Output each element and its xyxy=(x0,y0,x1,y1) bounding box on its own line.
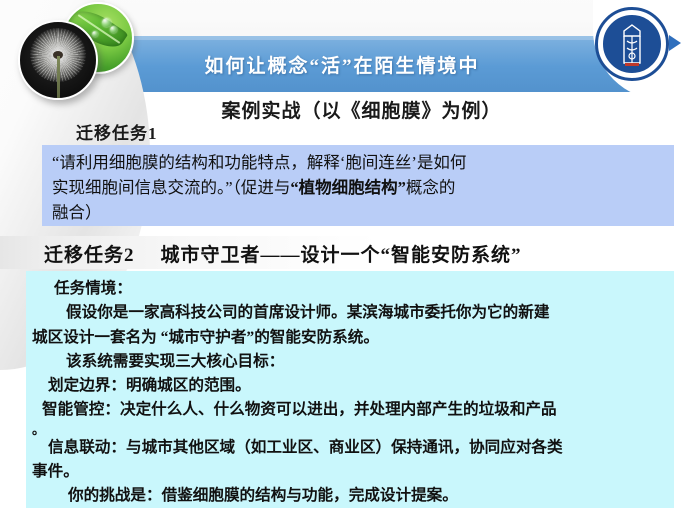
slide-title-bar: 如何让概念“活”在陌生情境中 xyxy=(118,39,566,89)
task1-content-box: “请利用细胞膜的结构和功能特点，解释‘胞间连丝’是如何 实现细胞间信息交流的。”… xyxy=(42,145,674,226)
logo-side-arrow-icon xyxy=(669,35,681,51)
task2-goal-2-line2: 。 xyxy=(32,423,668,436)
task1-line-2-part-a: 实现细胞间信息交流的。”（促进与 xyxy=(52,178,290,197)
task1-line-3: 融合） xyxy=(52,200,664,225)
dew-drop-icon xyxy=(110,26,117,33)
task2-goal-3-line2: 事件。 xyxy=(32,460,668,484)
task1-line-2-emphasis: “植物细胞结构” xyxy=(290,178,406,197)
task2-goals-intro: 该系统需要实现三大核心目标： xyxy=(32,350,668,374)
task1-line-1: “请利用细胞膜的结构和功能特点，解释‘胞间连丝’是如何 xyxy=(52,150,664,175)
task2-label: 迁移任务2 xyxy=(44,245,135,266)
dandelion-photo xyxy=(18,20,98,100)
task2-paragraph1-line2: 城区设计一套名为 “城市守护者”的智能安防系统。 xyxy=(32,326,668,350)
task2-goal-1: 划定边界：明确城区的范围。 xyxy=(32,374,668,398)
task1-label: 迁移任务1 xyxy=(76,119,158,144)
dew-drop-icon xyxy=(102,18,111,27)
task2-scenario-heading: 任务情境： xyxy=(32,277,668,301)
dandelion-stem xyxy=(57,56,60,100)
task2-heading: 迁移任务2城市守卫者——设计一个“智能安防系统” xyxy=(44,240,522,267)
task2-title: 城市守卫者——设计一个“智能安防系统” xyxy=(161,245,522,266)
dew-drop-icon xyxy=(92,31,98,37)
task2-paragraph1-line1: 假设你是一家高科技公司的首席设计师。某滨海城市委托你为它的新建 xyxy=(32,301,668,325)
task2-goal-3-line1: 信息联动：与城市其他区域（如工业区、商业区）保持通讯，协同应对各类 xyxy=(32,436,668,460)
task1-line-2: 实现细胞间信息交流的。”（促进与“植物细胞结构”概念的 xyxy=(52,175,664,200)
slide-title: 如何让概念“活”在陌生情境中 xyxy=(204,51,479,78)
university-logo xyxy=(595,7,669,81)
task2-content-box: 任务情境： 假设你是一家高科技公司的首席设计师。某滨海城市委托你为它的新建 城区… xyxy=(26,271,674,508)
task2-challenge: 你的挑战是：借鉴细胞膜的结构与功能，完成设计提案。 xyxy=(32,484,668,508)
task1-line-2-part-c: 概念的 xyxy=(406,178,456,197)
task2-goal-2-line1: 智能管控：决定什么人、什么物资可以进出，并处理内部产生的垃圾和产品 xyxy=(32,398,668,422)
slide-canvas: 如何让概念“活”在陌生情境中 案例实战（以《细胞膜》为例） 迁移任务1 “请利用… xyxy=(0,0,687,511)
logo-emblem-icon xyxy=(613,23,651,67)
